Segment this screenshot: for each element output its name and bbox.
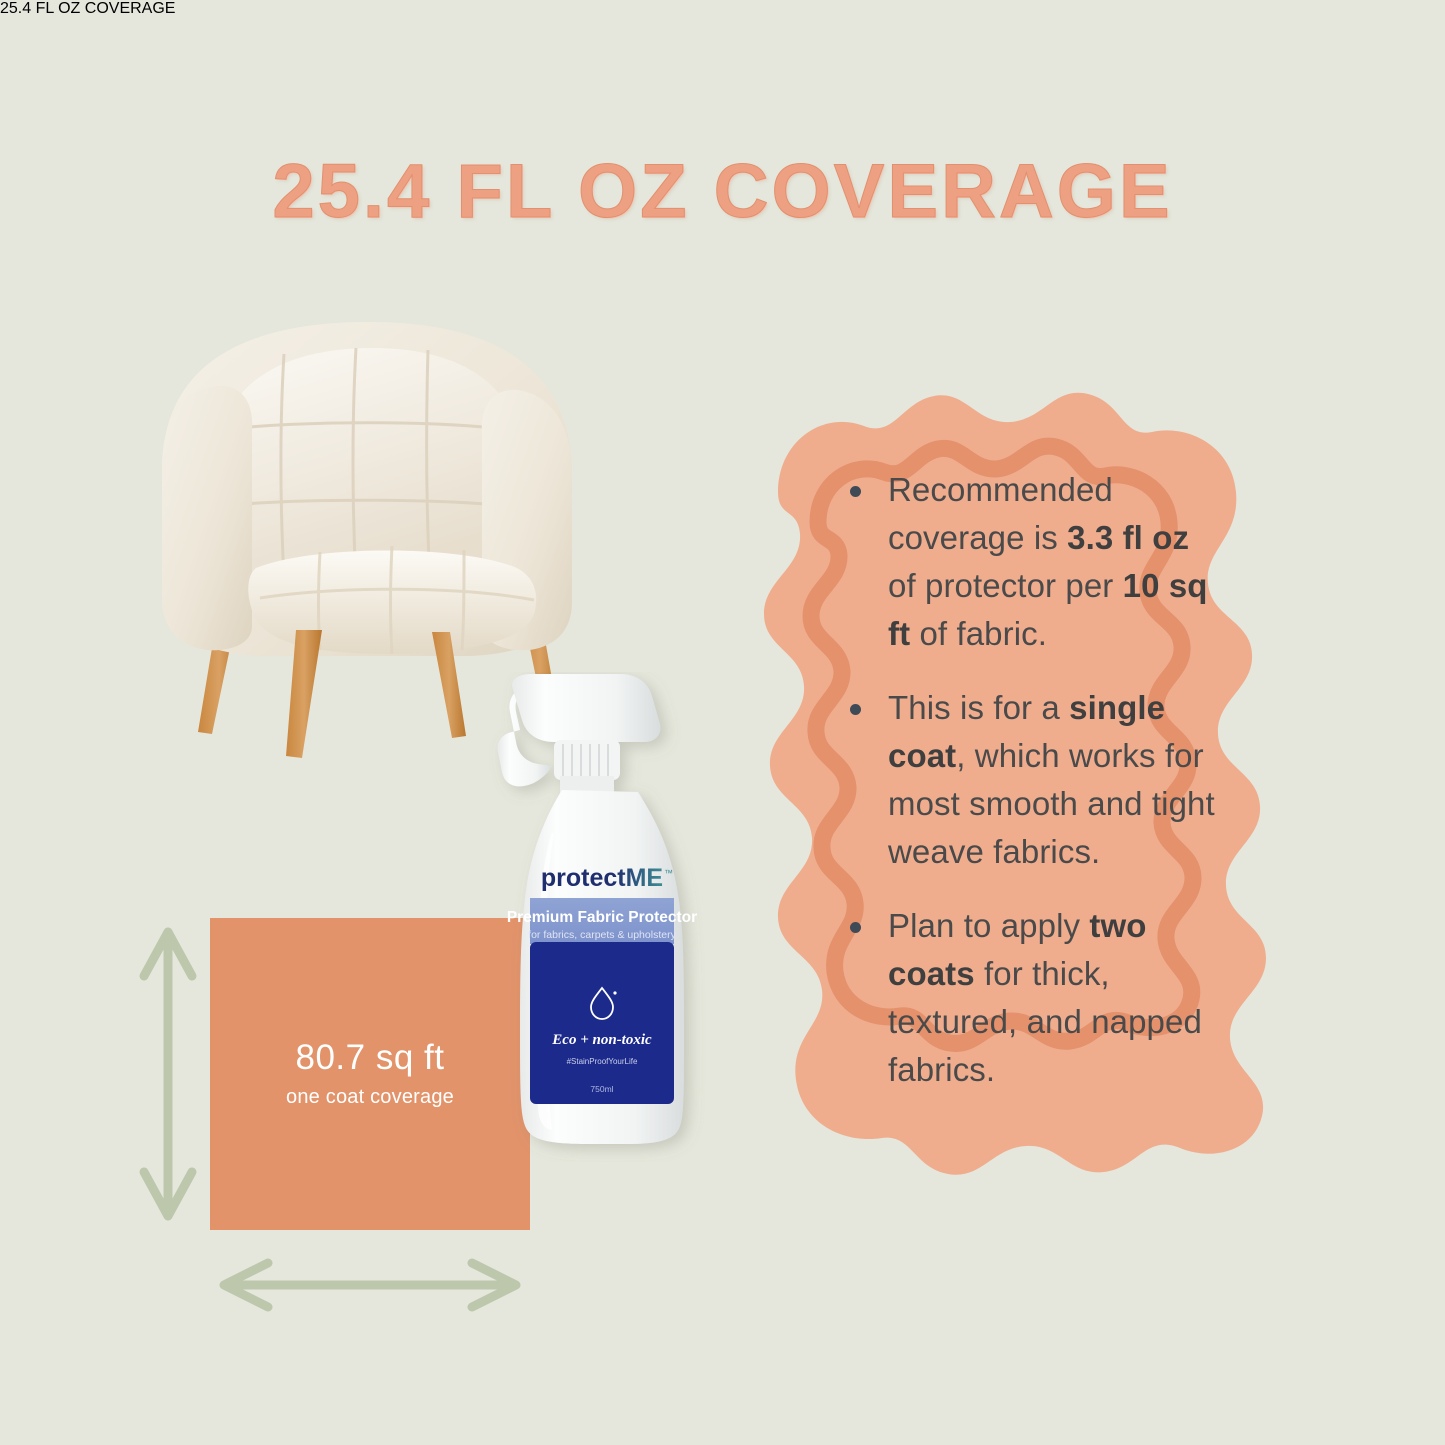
bottle-label-main (530, 942, 674, 1104)
list-item: This is for a single coat, which works f… (838, 684, 1218, 876)
bullet-dot-icon (850, 486, 861, 497)
bottle-volume: 750ml (590, 1084, 613, 1094)
bottle-brand-tm: ™ (664, 868, 673, 878)
bottle-headline: Premium Fabric Protector (507, 909, 697, 926)
double-arrow-horizontal-icon (210, 1250, 530, 1320)
bottle-brand: protectME (541, 864, 663, 892)
double-arrow-vertical-icon (128, 918, 208, 1230)
bullet-text: Recommended coverage is 3.3 fl oz of pro… (888, 471, 1208, 652)
infographic-canvas: 25.4 FL OZ COVERAGE 25.4 FL OZ COVERAGE (0, 0, 1445, 1445)
bottle-hashtag: #StainProofYourLife (567, 1057, 638, 1066)
coverage-sublabel: one coat coverage (286, 1086, 454, 1109)
bullet-text: This is for a single coat, which works f… (888, 689, 1215, 870)
bullet-text: Plan to apply two coats for thick, textu… (888, 907, 1202, 1088)
chair-back-inner (216, 348, 524, 582)
bottle-claim: Eco + non-toxic (551, 1032, 652, 1048)
page-title: 25.4 FL OZ COVERAGE (0, 148, 1445, 235)
bottle-head-top (512, 674, 660, 742)
spray-bottle-illustration: protectME ™ Premium Fabric Protector for… (468, 672, 718, 1162)
bottle-subhead: for fabrics, carpets & upholstery (528, 929, 676, 941)
bullet-list-container: Recommended coverage is 3.3 fl oz of pro… (838, 466, 1218, 1094)
list-item: Recommended coverage is 3.3 fl oz of pro… (838, 466, 1218, 658)
page-title-inline-highlight: 25.4 FL OZ COVERAGE (0, 0, 1445, 18)
coverage-bullet-list: Recommended coverage is 3.3 fl oz of pro… (838, 466, 1218, 1094)
coverage-value: 80.7 sq ft (296, 1039, 445, 1078)
bullet-dot-icon (850, 922, 861, 933)
bullet-dot-icon (850, 704, 861, 715)
chair-arm-left (162, 386, 252, 650)
list-item: Plan to apply two coats for thick, textu… (838, 902, 1218, 1094)
